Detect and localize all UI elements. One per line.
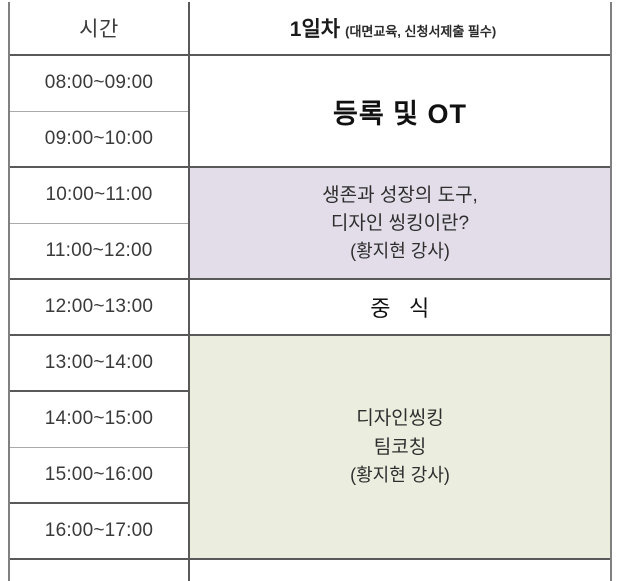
time-slot-1100: 11:00~12:00 <box>9 223 189 279</box>
session-lunch-part2: 식 <box>409 296 430 321</box>
table-header-row: 시간 1일차(대면교육, 신청서제출 필수) <box>9 2 611 55</box>
session-design-thinking-lecture-body: 생존과 성장의 도구, 디자인 씽킹이란? (황지현 강사) <box>190 182 610 265</box>
session-lunch-title: 중식 <box>190 291 610 323</box>
session-design-thinking-team-coaching-line1: 디자인씽킹 <box>190 404 610 433</box>
session-registration-ot-title: 등록 및 OT <box>190 92 610 131</box>
table-row: 12:00~13:00 중식 <box>9 279 611 335</box>
time-slot-1400: 14:00~15:00 <box>9 391 189 447</box>
time-slot-1200: 12:00~13:00 <box>9 279 189 335</box>
schedule-table-container: 시간 1일차(대면교육, 신청서제출 필수) 08:00~09:00 등록 및 … <box>8 2 610 581</box>
table-row: 13:00~14:00 디자인씽킹 팀코칭 (황지현 강사) <box>9 335 611 391</box>
time-slot-1600: 16:00~17:00 <box>9 503 189 559</box>
column-header-day1: 1일차(대면교육, 신청서제출 필수) <box>189 2 611 55</box>
column-header-time: 시간 <box>9 2 189 55</box>
session-lunch: 중식 <box>189 279 611 335</box>
session-design-thinking-lecture-line2: 디자인 씽킹이란? <box>190 210 610 238</box>
time-slot-1500: 15:00~16:00 <box>9 447 189 503</box>
session-design-thinking-lecture: 생존과 성장의 도구, 디자인 씽킹이란? (황지현 강사) <box>189 167 611 279</box>
session-design-thinking-team-coaching-body: 디자인씽킹 팀코칭 (황지현 강사) <box>190 404 610 491</box>
session-truncated <box>189 559 611 581</box>
schedule-table: 시간 1일차(대면교육, 신청서제출 필수) 08:00~09:00 등록 및 … <box>8 2 612 581</box>
session-design-thinking-lecture-lecturer: (황지현 강사) <box>190 238 610 265</box>
day1-note: (대면교육, 신청서제출 필수) <box>345 24 496 39</box>
table-row: 10:00~11:00 생존과 성장의 도구, 디자인 씽킹이란? (황지현 강… <box>9 167 611 223</box>
session-design-thinking-lecture-line1: 생존과 성장의 도구, <box>190 182 610 210</box>
session-design-thinking-team-coaching-line2: 팀코칭 <box>190 433 610 462</box>
time-slot-0800: 08:00~09:00 <box>9 55 189 111</box>
time-slot-truncated <box>9 559 189 581</box>
table-row-truncated <box>9 559 611 581</box>
time-slot-1000: 10:00~11:00 <box>9 167 189 223</box>
session-design-thinking-team-coaching: 디자인씽킹 팀코칭 (황지현 강사) <box>189 335 611 559</box>
day1-title: 1일차 <box>290 18 340 41</box>
session-lunch-part1: 중 <box>370 296 391 321</box>
table-row: 08:00~09:00 등록 및 OT <box>9 55 611 111</box>
time-slot-0900: 09:00~10:00 <box>9 111 189 167</box>
time-slot-1300: 13:00~14:00 <box>9 335 189 391</box>
session-registration-ot: 등록 및 OT <box>189 55 611 167</box>
session-design-thinking-team-coaching-lecturer: (황지현 강사) <box>190 462 610 490</box>
